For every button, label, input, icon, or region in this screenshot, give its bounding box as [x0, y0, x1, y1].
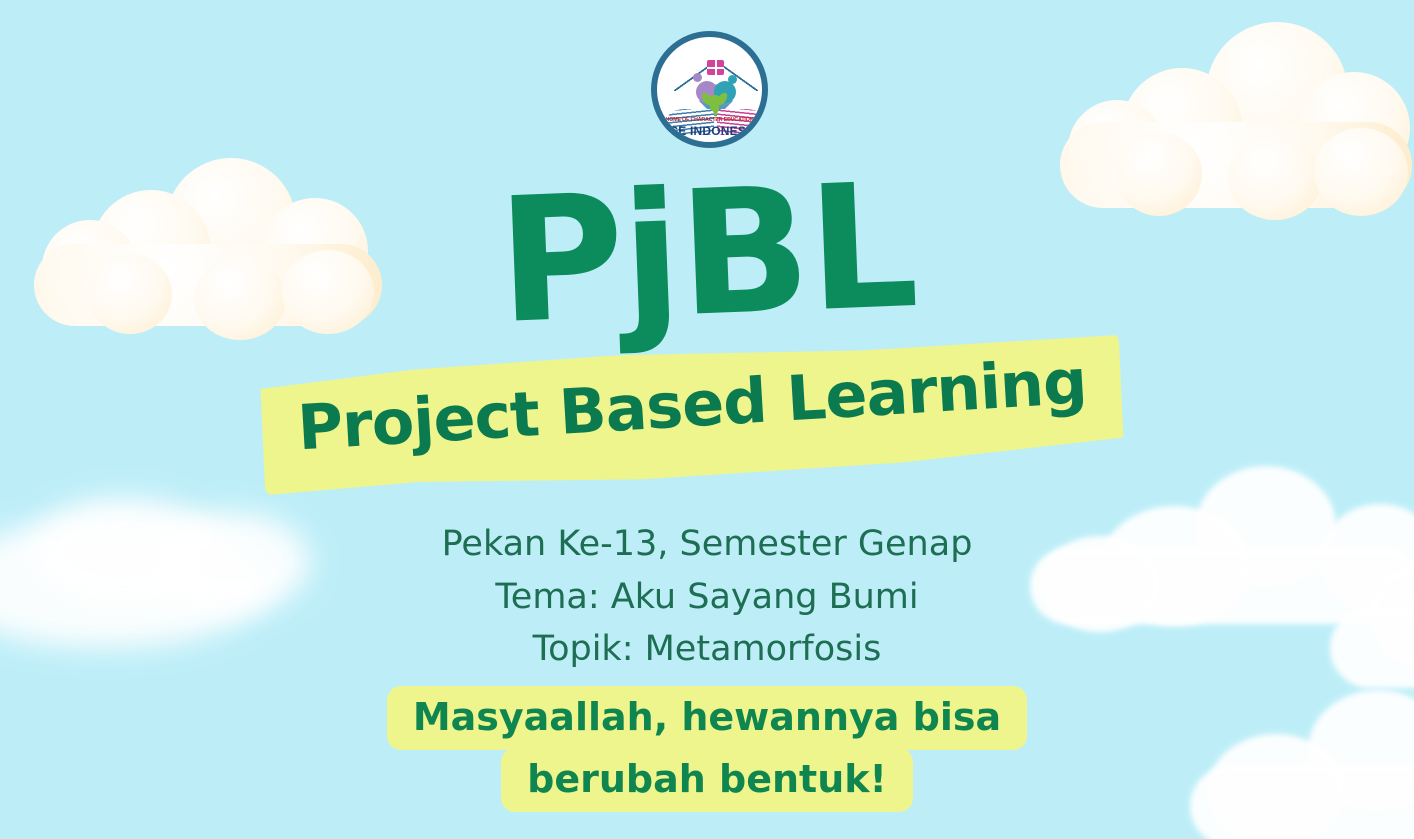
family-figure-left-icon	[693, 73, 702, 82]
hce-indonesia-logo: HOME OF CHARACTER EDUCATION HCE INDONESI…	[651, 31, 768, 148]
session-week-line: Pekan Ke-13, Semester Genap	[0, 518, 1414, 571]
window-icon	[707, 60, 724, 75]
presentation-slide: HOME OF CHARACTER EDUCATION HCE INDONESI…	[0, 0, 1414, 839]
family-figure-right-icon	[728, 75, 737, 84]
session-theme-line: Tema: Aku Sayang Bumi	[0, 571, 1414, 624]
callout-message: Masyaallah, hewannya bisa berubah bentuk…	[0, 686, 1414, 812]
callout-line-1: Masyaallah, hewannya bisa	[387, 686, 1027, 750]
callout-line-1-row: Masyaallah, hewannya bisa	[0, 686, 1414, 750]
session-details: Pekan Ke-13, Semester Genap Tema: Aku Sa…	[0, 518, 1414, 676]
callout-line-2-row: berubah bentuk!	[0, 748, 1414, 812]
subtitle-banner: Project Based Learning	[262, 352, 1122, 477]
callout-line-2: berubah bentuk!	[501, 748, 913, 812]
logo-tagline: HOME OF CHARACTER EDUCATION	[657, 117, 762, 123]
logo-organization: HCE INDONESIA	[657, 124, 762, 138]
session-topic-line: Topik: Metamorfosis	[0, 623, 1414, 676]
